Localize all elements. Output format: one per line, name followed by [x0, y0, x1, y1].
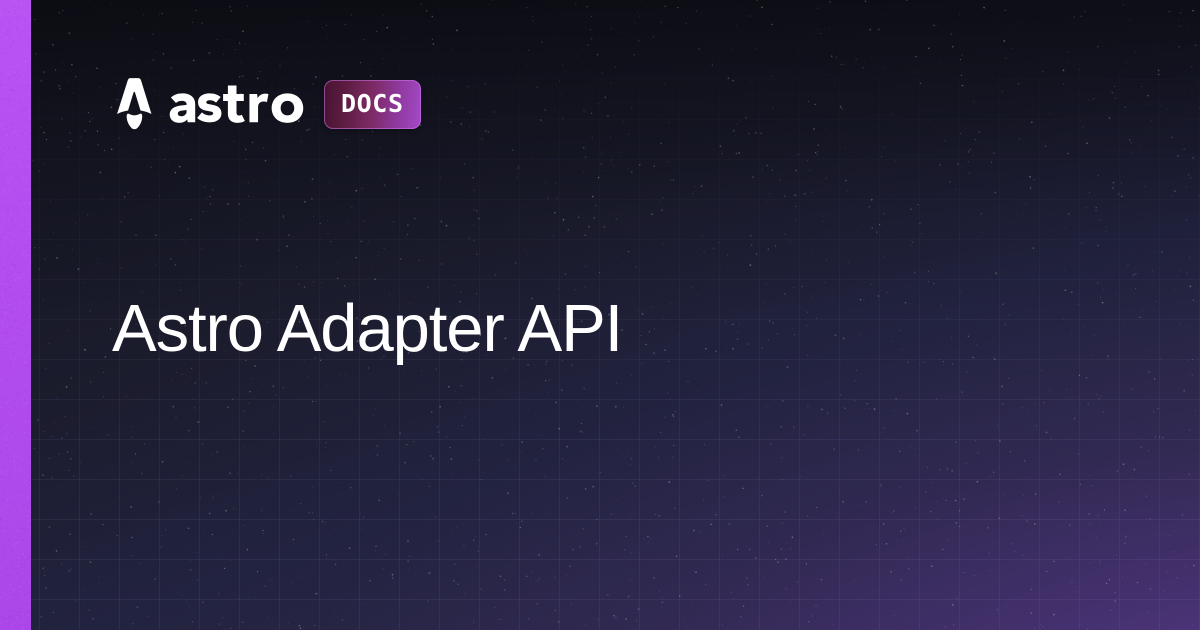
brand-row: DOCS: [112, 78, 421, 130]
page-title: Astro Adapter API: [112, 293, 1112, 364]
docs-badge[interactable]: DOCS: [324, 80, 421, 129]
astro-logo[interactable]: [112, 78, 304, 130]
docs-badge-label: DOCS: [341, 91, 404, 116]
astro-wordmark: [168, 83, 304, 126]
astro-rocket-logo-icon: [112, 78, 157, 130]
card-content: DOCS Astro Adapter API: [0, 0, 1200, 630]
og-social-card: DOCS Astro Adapter API: [0, 0, 1200, 630]
